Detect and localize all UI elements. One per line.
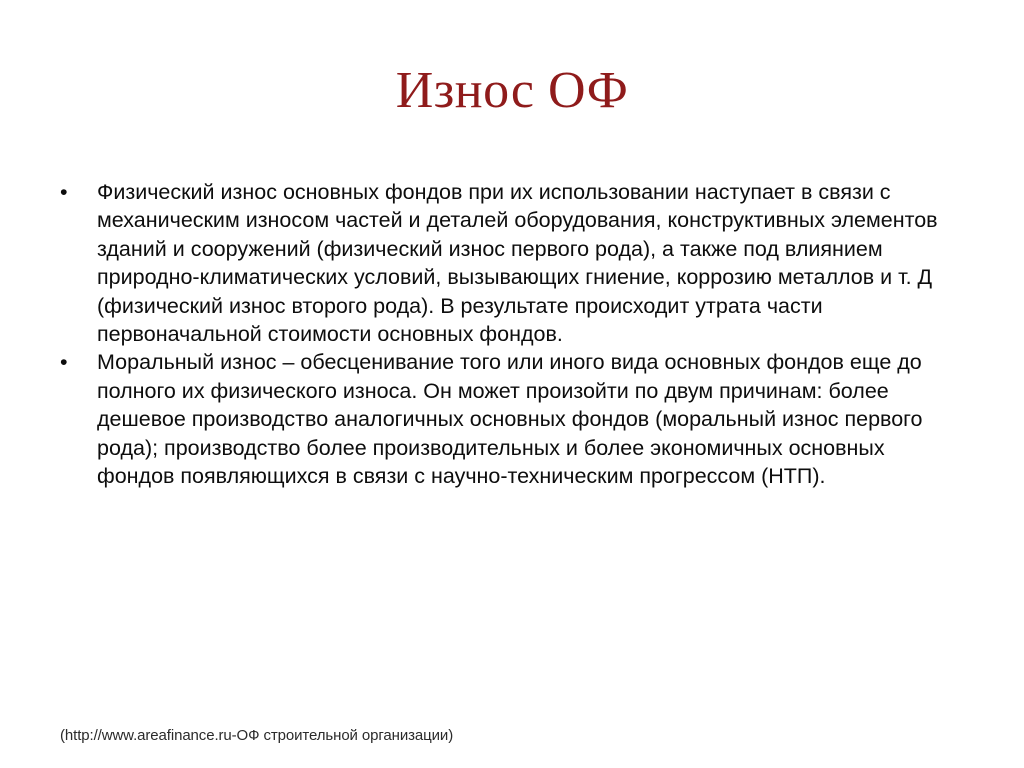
- list-item: • Моральный износ – обесценивание того и…: [52, 348, 952, 490]
- bullet-point-icon: •: [60, 348, 76, 376]
- slide-body-content: • Физический износ основных фондов при и…: [52, 178, 952, 490]
- list-item-text: Физический износ основных фондов при их …: [97, 178, 952, 348]
- page-title: Износ ОФ: [0, 62, 1024, 120]
- footer-source-citation: (http://www.areafinance.ru-ОФ строительн…: [60, 726, 453, 746]
- list-item: • Физический износ основных фондов при и…: [52, 178, 952, 348]
- presentation-slide: Износ ОФ • Физический износ основных фон…: [0, 0, 1024, 768]
- bullet-point-icon: •: [60, 178, 76, 206]
- list-item-text: Моральный износ – обесценивание того или…: [97, 348, 952, 490]
